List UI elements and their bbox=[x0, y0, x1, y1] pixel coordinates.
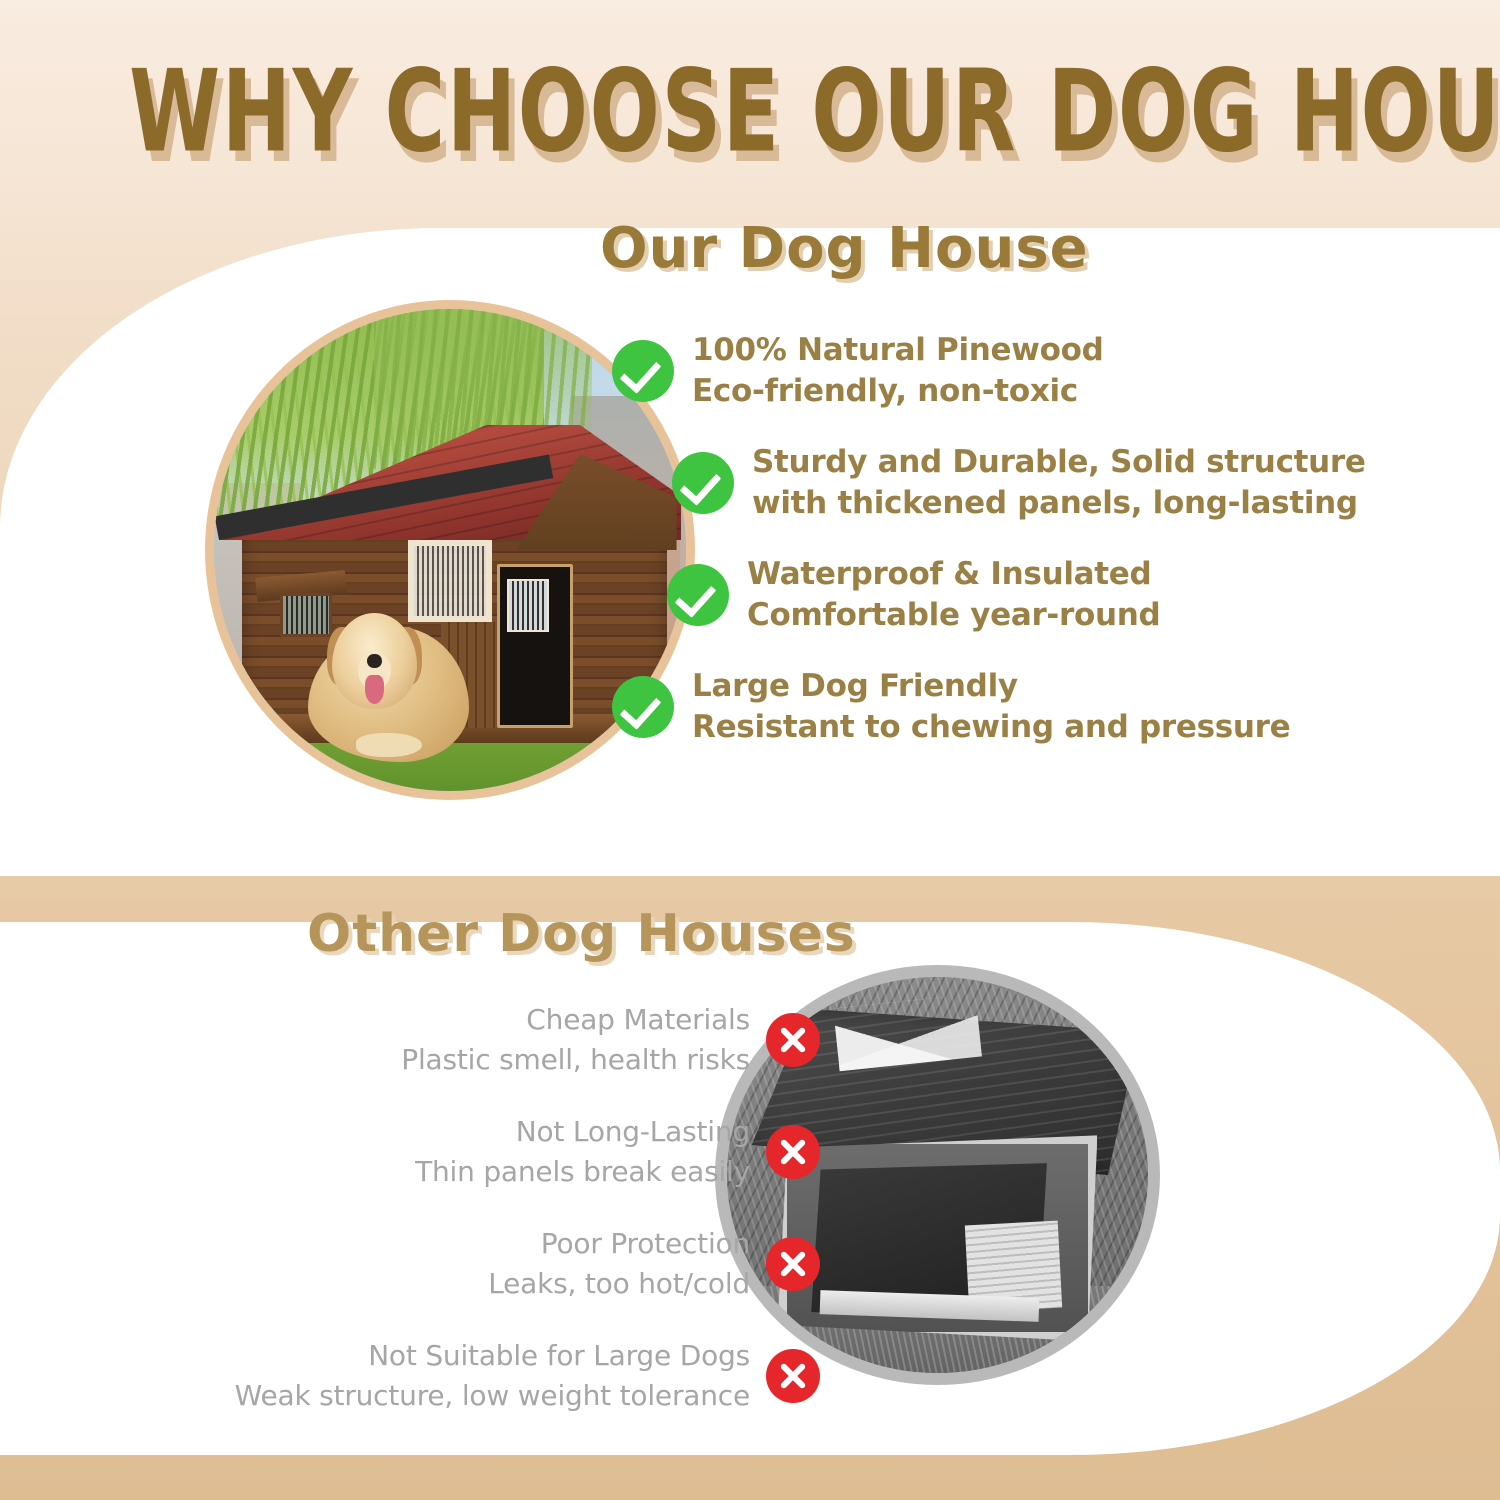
drawback-item: Not Long-Lasting Thin panels break easil… bbox=[100, 1112, 820, 1192]
benefit-text: 100% Natural Pinewood Eco-friendly, non-… bbox=[692, 330, 1104, 412]
drawback-list: Cheap Materials Plastic smell, health ri… bbox=[100, 1000, 820, 1448]
benefit-line-2: Comfortable year-round bbox=[747, 595, 1160, 636]
our-dog-house-heading: Our Dog House bbox=[600, 218, 1089, 280]
benefit-item: Large Dog Friendly Resistant to chewing … bbox=[612, 666, 1462, 748]
drawback-item: Cheap Materials Plastic smell, health ri… bbox=[100, 1000, 820, 1080]
benefit-line-1: Waterproof & Insulated bbox=[747, 554, 1160, 595]
photo-house-window bbox=[408, 540, 493, 622]
page-title: WHY CHOOSE OUR DOG HOUSE?" bbox=[0, 50, 1500, 170]
benefit-line-1: 100% Natural Pinewood bbox=[692, 330, 1104, 371]
drawback-item: Not Suitable for Large Dogs Weak structu… bbox=[100, 1336, 820, 1416]
drawback-text: Cheap Materials Plastic smell, health ri… bbox=[401, 1000, 750, 1080]
benefit-line-1: Large Dog Friendly bbox=[692, 666, 1290, 707]
drawback-line-1: Poor Protection bbox=[488, 1224, 750, 1264]
x-circle-icon bbox=[766, 1237, 820, 1291]
other-dog-houses-heading: Other Dog Houses bbox=[307, 905, 856, 963]
check-circle-icon bbox=[672, 452, 734, 514]
drawback-line-2: Thin panels break easily bbox=[415, 1152, 750, 1192]
benefit-item: Waterproof & Insulated Comfortable year-… bbox=[667, 554, 1462, 636]
benefit-line-2: with thickened panels, long-lasting bbox=[752, 483, 1366, 524]
drawback-item: Poor Protection Leaks, too hot/cold bbox=[100, 1224, 820, 1304]
photo-dog-nose bbox=[367, 654, 381, 668]
photo-dog-paws bbox=[356, 733, 422, 757]
benefit-text: Waterproof & Insulated Comfortable year-… bbox=[747, 554, 1160, 636]
check-circle-icon bbox=[667, 564, 729, 626]
drawback-line-2: Leaks, too hot/cold bbox=[488, 1264, 750, 1304]
benefit-line-1: Sturdy and Durable, Solid structure bbox=[752, 442, 1366, 483]
check-circle-icon bbox=[612, 340, 674, 402]
drawback-line-1: Not Suitable for Large Dogs bbox=[235, 1336, 750, 1376]
page-title-text: WHY CHOOSE OUR DOG HOUSE?" bbox=[129, 50, 1500, 173]
drawback-line-2: Plastic smell, health risks bbox=[401, 1040, 750, 1080]
check-circle-icon bbox=[612, 676, 674, 738]
benefit-line-2: Resistant to chewing and pressure bbox=[692, 707, 1290, 748]
benefit-text: Sturdy and Durable, Solid structure with… bbox=[752, 442, 1366, 524]
x-circle-icon bbox=[766, 1125, 820, 1179]
benefit-item: 100% Natural Pinewood Eco-friendly, non-… bbox=[612, 330, 1462, 412]
x-circle-icon bbox=[766, 1349, 820, 1403]
photo-dog-tongue bbox=[365, 675, 384, 704]
x-circle-icon bbox=[766, 1013, 820, 1067]
drawback-text: Poor Protection Leaks, too hot/cold bbox=[488, 1224, 750, 1304]
benefit-text: Large Dog Friendly Resistant to chewing … bbox=[692, 666, 1290, 748]
drawback-text: Not Suitable for Large Dogs Weak structu… bbox=[235, 1336, 750, 1416]
benefit-item: Sturdy and Durable, Solid structure with… bbox=[672, 442, 1462, 524]
photo-side-window bbox=[280, 593, 332, 636]
photo-door-window bbox=[507, 579, 549, 632]
benefit-line-2: Eco-friendly, non-toxic bbox=[692, 371, 1104, 412]
drawback-line-1: Cheap Materials bbox=[401, 1000, 750, 1040]
drawback-line-1: Not Long-Lasting bbox=[415, 1112, 750, 1152]
benefit-list: 100% Natural Pinewood Eco-friendly, non-… bbox=[612, 330, 1462, 778]
drawback-text: Not Long-Lasting Thin panels break easil… bbox=[415, 1112, 750, 1192]
drawback-line-2: Weak structure, low weight tolerance bbox=[235, 1376, 750, 1416]
